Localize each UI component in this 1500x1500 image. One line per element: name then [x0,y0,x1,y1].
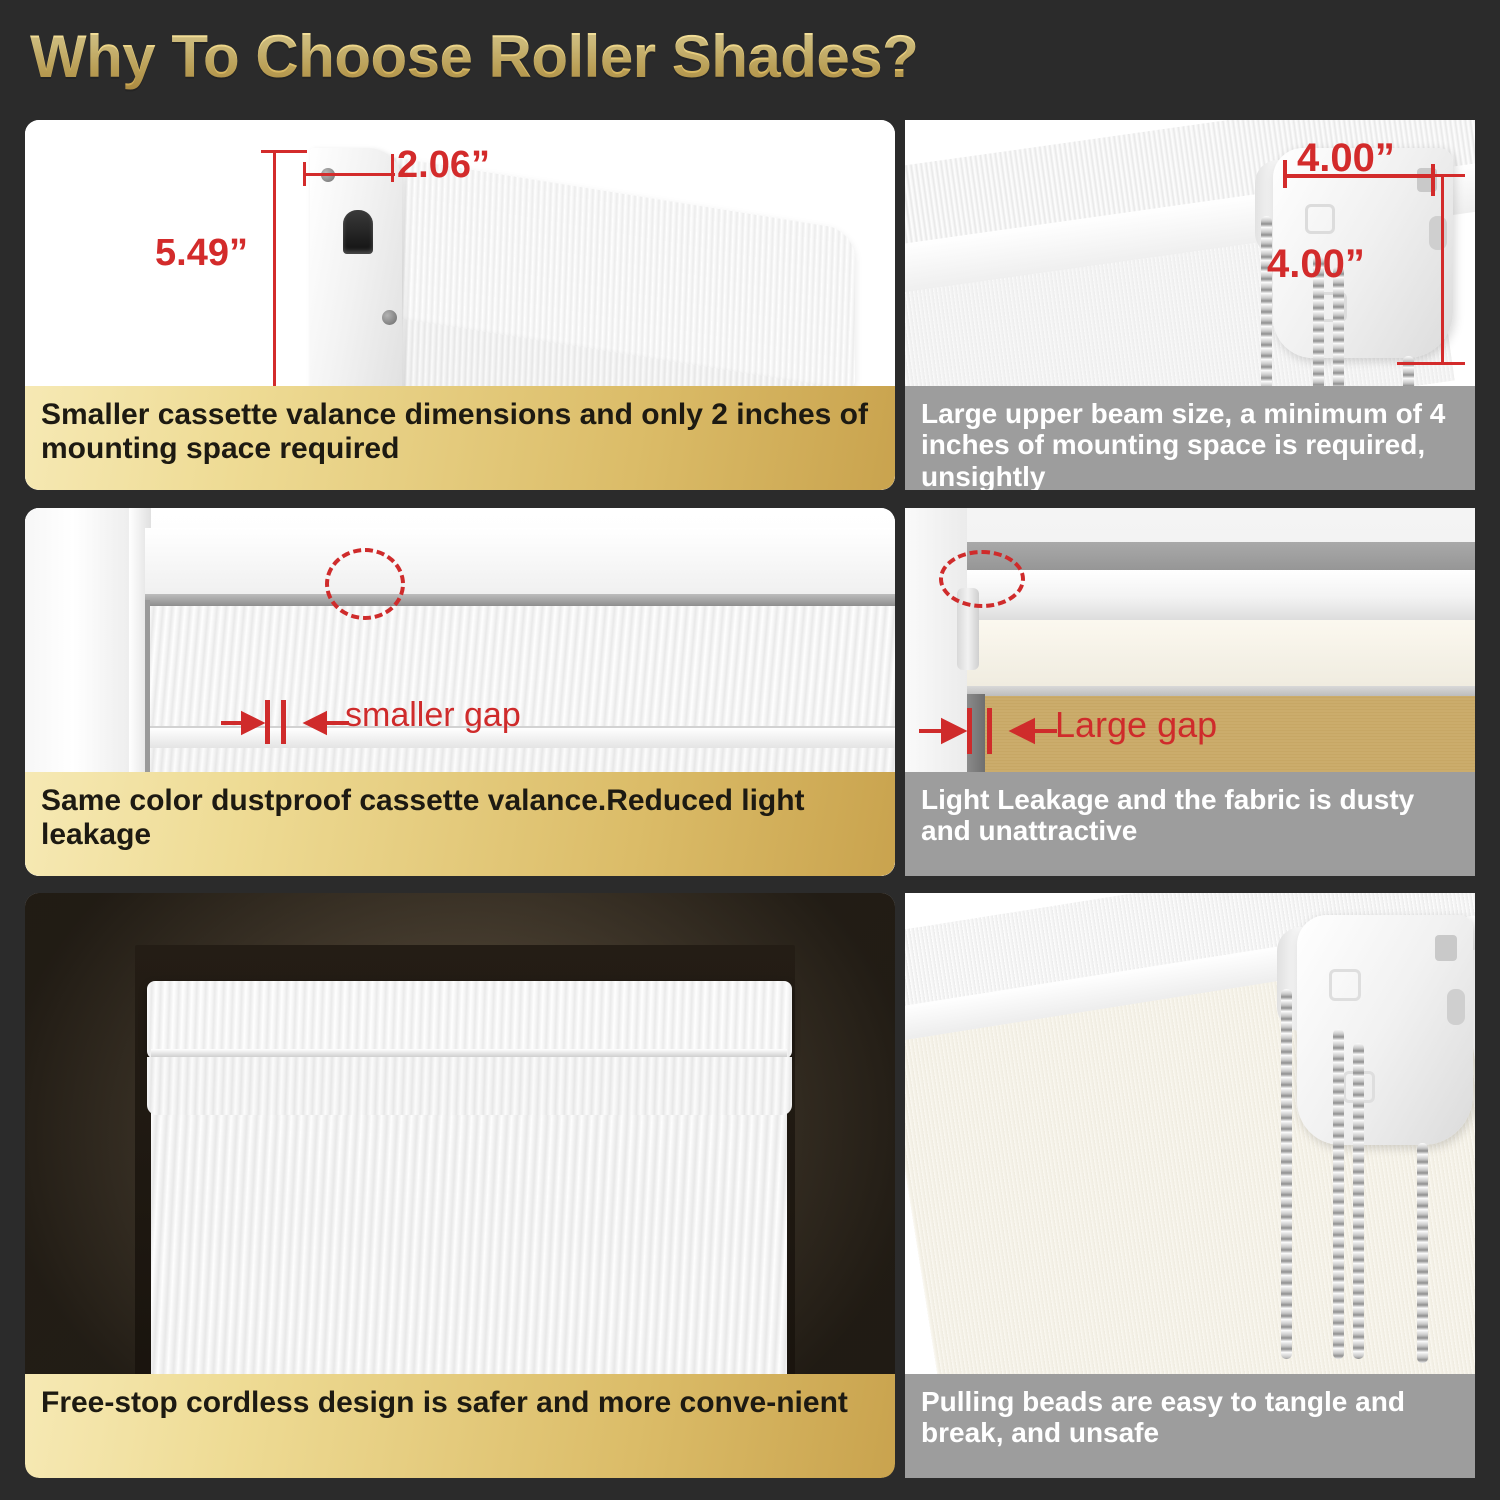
end-cap-slot [343,210,373,254]
panel-2-caption: Large upper beam size, a minimum of 4 in… [905,386,1475,490]
window-header [145,528,895,594]
panel-5-caption: Free-stop cordless design is safer and m… [25,1374,895,1478]
cream-valance-band [963,620,1475,686]
roller-tube-front [963,570,1475,624]
panel-4-caption: Light Leakage and the fabric is dusty an… [905,772,1475,876]
bracket-notch-side [1429,216,1447,250]
gap-arrow-right-icon [995,714,1057,748]
silver-rail [963,686,1475,696]
panel-pro-dustproof-valance: smaller gap Same color dustproof cassett… [25,508,895,876]
gap-arrow-right-icon [289,706,349,740]
panel-con-light-leakage: Large gap Light Leakage and the fabric i… [905,508,1475,876]
gap-arrow-left-icon [919,714,995,748]
valance-seam [151,1049,787,1057]
gap-marker-left [967,708,972,754]
valance-lower-lip [147,1057,792,1115]
bead-chain-3 [1353,1043,1364,1359]
panel-6-caption: Pulling beads are easy to tangle and bre… [905,1374,1475,1478]
cassette-valance [147,981,792,1059]
gap-marker-right [987,708,992,754]
large-gap-label: Large gap [1055,704,1217,746]
highlight-circle [939,550,1025,608]
gap-marker-right [281,700,286,744]
beam-width-label: 4.00” [1297,136,1395,181]
panel-3-caption: Same color dustproof cassette valance.Re… [25,772,895,876]
bracket-notch-top [1435,935,1457,961]
width-dim-tick-left [303,162,306,186]
width-dim-line [303,173,395,176]
panel-pro-free-stop-cordless: Free-stop cordless design is safer and m… [25,893,895,1478]
beam-width-tick-right [1431,164,1435,196]
bracket-emblem-upper-icon [1329,969,1361,1001]
bracket-emblem-upper-icon [1305,204,1335,234]
smaller-gap-label: smaller gap [345,696,521,735]
screw-mid-icon [382,310,397,325]
gap-marker-left [265,700,270,744]
beam-height-label: 4.00” [1267,242,1365,287]
beam-width-tick-left [1283,160,1287,188]
infographic-page: Why To Choose Roller Shades? 5.49” 2.06”… [0,0,1500,1500]
beam-height-tick-top [1425,174,1465,177]
width-dim-tick-right [391,154,394,182]
bead-chain-4 [1417,1143,1428,1363]
panel-pro-cassette-dimensions: 5.49” 2.06” Smaller cassette valance dim… [25,120,895,490]
bracket-notch-side [1447,989,1465,1025]
panel-con-large-upper-beam: 4.00” 4.00” Large upper beam size, a min… [905,120,1475,490]
height-dim-tick-top [261,150,307,153]
beam-height-dim-line [1441,174,1444,364]
beam-height-tick-bottom [1397,362,1465,365]
height-dimension-label: 5.49” [155,232,248,275]
width-dimension-label: 2.06” [397,144,490,187]
panel-con-pulling-beads: Pulling beads are easy to tangle and bre… [905,893,1475,1478]
bead-chain-1 [1281,989,1292,1359]
bead-chain-2 [1333,1029,1344,1359]
panel-1-caption: Smaller cassette valance dimensions and … [25,386,895,490]
page-title: Why To Choose Roller Shades? [30,22,918,91]
cassette-valance-top [145,594,895,606]
highlight-circle [325,548,405,620]
